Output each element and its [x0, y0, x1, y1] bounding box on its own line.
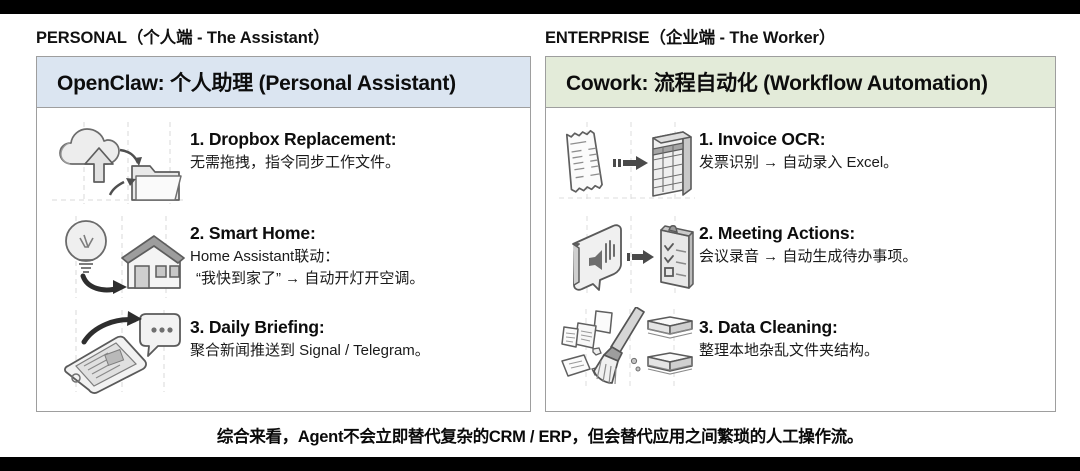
slide-stage: PERSONAL（个人端 - The Assistant） OpenClaw: … — [0, 0, 1080, 471]
list-item: 2. Smart Home: Home Assistant联动： “我快到家了”… — [45, 210, 520, 304]
column-kicker-personal: PERSONAL（个人端 - The Assistant） — [36, 24, 531, 48]
broom-papers-icon — [554, 304, 699, 398]
panel-title-enterprise: Cowork: 流程自动化 (Workflow Automation) — [546, 57, 1055, 108]
column-enterprise: ENTERPRISE（企业端 - The Worker） Cowork: 流程自… — [545, 24, 1056, 412]
list-item-desc: 无需拖拽，指令同步工作文件。 — [190, 152, 400, 174]
column-personal: PERSONAL（个人端 - The Assistant） OpenClaw: … — [36, 24, 531, 412]
lightbulb-house-icon — [45, 210, 190, 304]
footer-note: 综合来看，Agent不会立即替代复杂的CRM / ERP，但会替代应用之间繁琐的… — [217, 423, 863, 447]
list-item: 2. Meeting Actions: 会议录音 → 自动生成待办事项。 — [554, 210, 1045, 304]
list-item-desc: 聚合新闻推送到 Signal / Telegram。 — [190, 340, 430, 362]
list-item-title: 2. Smart Home: — [190, 223, 424, 244]
audio-clipboard-icon — [554, 210, 699, 304]
list-item-text: 1. Dropbox Replacement: 无需拖拽，指令同步工作文件。 — [190, 116, 400, 174]
list-item-title: 3. Daily Briefing: — [190, 317, 430, 338]
panel-body-personal: 1. Dropbox Replacement: 无需拖拽，指令同步工作文件。 — [37, 108, 530, 411]
receipt-spreadsheet-icon — [554, 116, 699, 210]
list-item-title: 1. Dropbox Replacement: — [190, 129, 400, 150]
smartphone-chat-icon — [45, 304, 190, 398]
list-item-desc-second-line: “我快到家了” → 自动开灯开空调。 — [190, 268, 424, 290]
panel-title-personal: OpenClaw: 个人助理 (Personal Assistant) — [37, 57, 530, 108]
list-item-desc: Home Assistant联动： — [190, 246, 424, 268]
panel-body-enterprise: 1. Invoice OCR: 发票识别 → 自动录入 Excel。 — [546, 108, 1055, 411]
slide-footer: 综合来看，Agent不会立即替代复杂的CRM / ERP，但会替代应用之间繁琐的… — [0, 412, 1080, 457]
list-item-desc: 整理本地杂乱文件夹结构。 — [699, 340, 879, 362]
list-item: 3. Daily Briefing: 聚合新闻推送到 Signal / Tele… — [45, 304, 520, 398]
column-kicker-enterprise: ENTERPRISE（企业端 - The Worker） — [545, 24, 1056, 48]
list-item-text: 3. Data Cleaning: 整理本地杂乱文件夹结构。 — [699, 304, 879, 362]
slide-canvas: PERSONAL（个人端 - The Assistant） OpenClaw: … — [0, 14, 1080, 457]
list-item-text: 2. Smart Home: Home Assistant联动： “我快到家了”… — [190, 210, 424, 290]
panel-enterprise: Cowork: 流程自动化 (Workflow Automation) — [545, 56, 1056, 412]
list-item: 1. Dropbox Replacement: 无需拖拽，指令同步工作文件。 — [45, 116, 520, 210]
list-item: 1. Invoice OCR: 发票识别 → 自动录入 Excel。 — [554, 116, 1045, 210]
list-item-title: 1. Invoice OCR: — [699, 129, 898, 150]
list-item-desc: 会议录音 → 自动生成待办事项。 — [699, 246, 917, 268]
list-item: 3. Data Cleaning: 整理本地杂乱文件夹结构。 — [554, 304, 1045, 398]
list-item-text: 1. Invoice OCR: 发票识别 → 自动录入 Excel。 — [699, 116, 898, 174]
list-item-desc: 发票识别 → 自动录入 Excel。 — [699, 152, 898, 174]
cloud-folder-sync-icon — [45, 116, 190, 210]
two-column-layout: PERSONAL（个人端 - The Assistant） OpenClaw: … — [0, 14, 1080, 412]
panel-personal: OpenClaw: 个人助理 (Personal Assistant) — [36, 56, 531, 412]
list-item-title: 2. Meeting Actions: — [699, 223, 917, 244]
list-item-text: 3. Daily Briefing: 聚合新闻推送到 Signal / Tele… — [190, 304, 430, 362]
list-item-title: 3. Data Cleaning: — [699, 317, 879, 338]
list-item-text: 2. Meeting Actions: 会议录音 → 自动生成待办事项。 — [699, 210, 917, 268]
